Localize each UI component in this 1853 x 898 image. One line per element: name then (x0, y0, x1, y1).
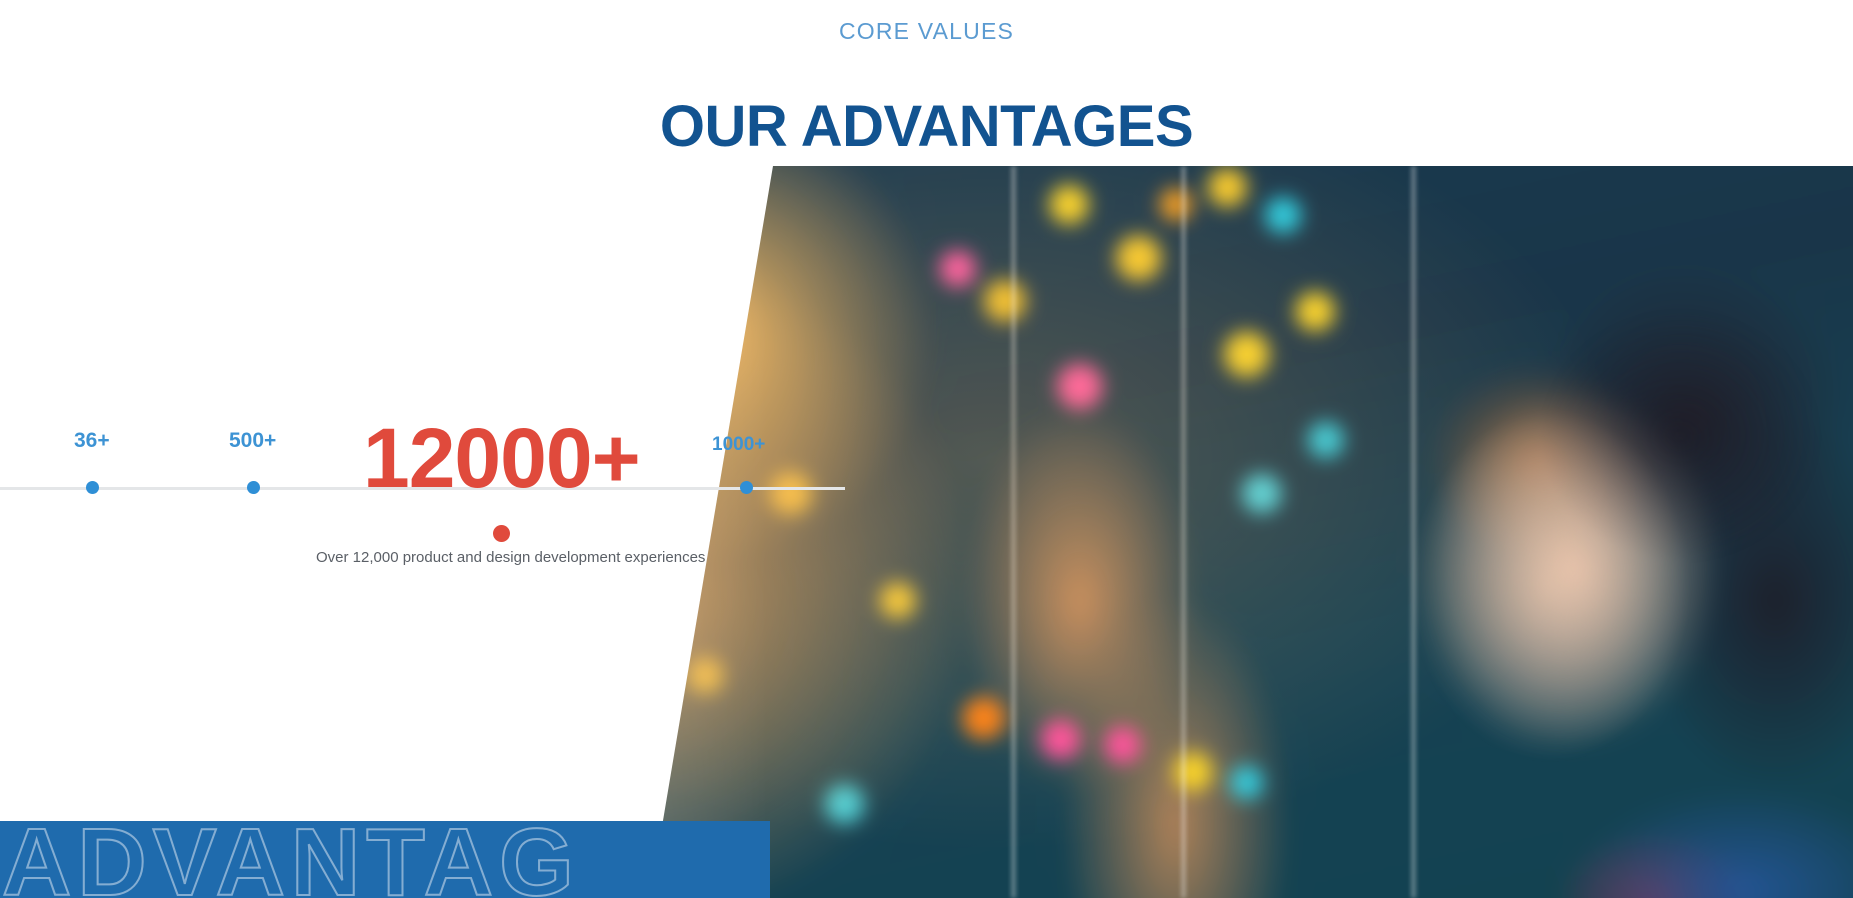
bottom-blue-band: ADVANTAG (0, 821, 770, 898)
stat-value-2: 500+ (229, 429, 276, 453)
hero-photo (620, 166, 1853, 898)
stat-value-1: 36+ (74, 429, 110, 453)
stat-value-4: 1000+ (712, 434, 765, 456)
stat-value-featured: 12000+ (363, 413, 640, 503)
stat-dot-2 (247, 481, 260, 494)
section-eyebrow: CORE VALUES (0, 18, 1853, 45)
stat-caption-featured: Over 12,000 product and design developme… (316, 549, 684, 566)
photo-vignette (620, 166, 1853, 898)
stat-dot-1 (86, 481, 99, 494)
stat-dot-featured (493, 525, 510, 542)
advantages-section: CORE VALUES OUR ADVANTAGES 36+ 500+ 1200… (0, 0, 1853, 898)
page-title: OUR ADVANTAGES (0, 95, 1853, 159)
stat-dot-4 (740, 481, 753, 494)
band-outline-text: ADVANTAG (2, 821, 580, 898)
